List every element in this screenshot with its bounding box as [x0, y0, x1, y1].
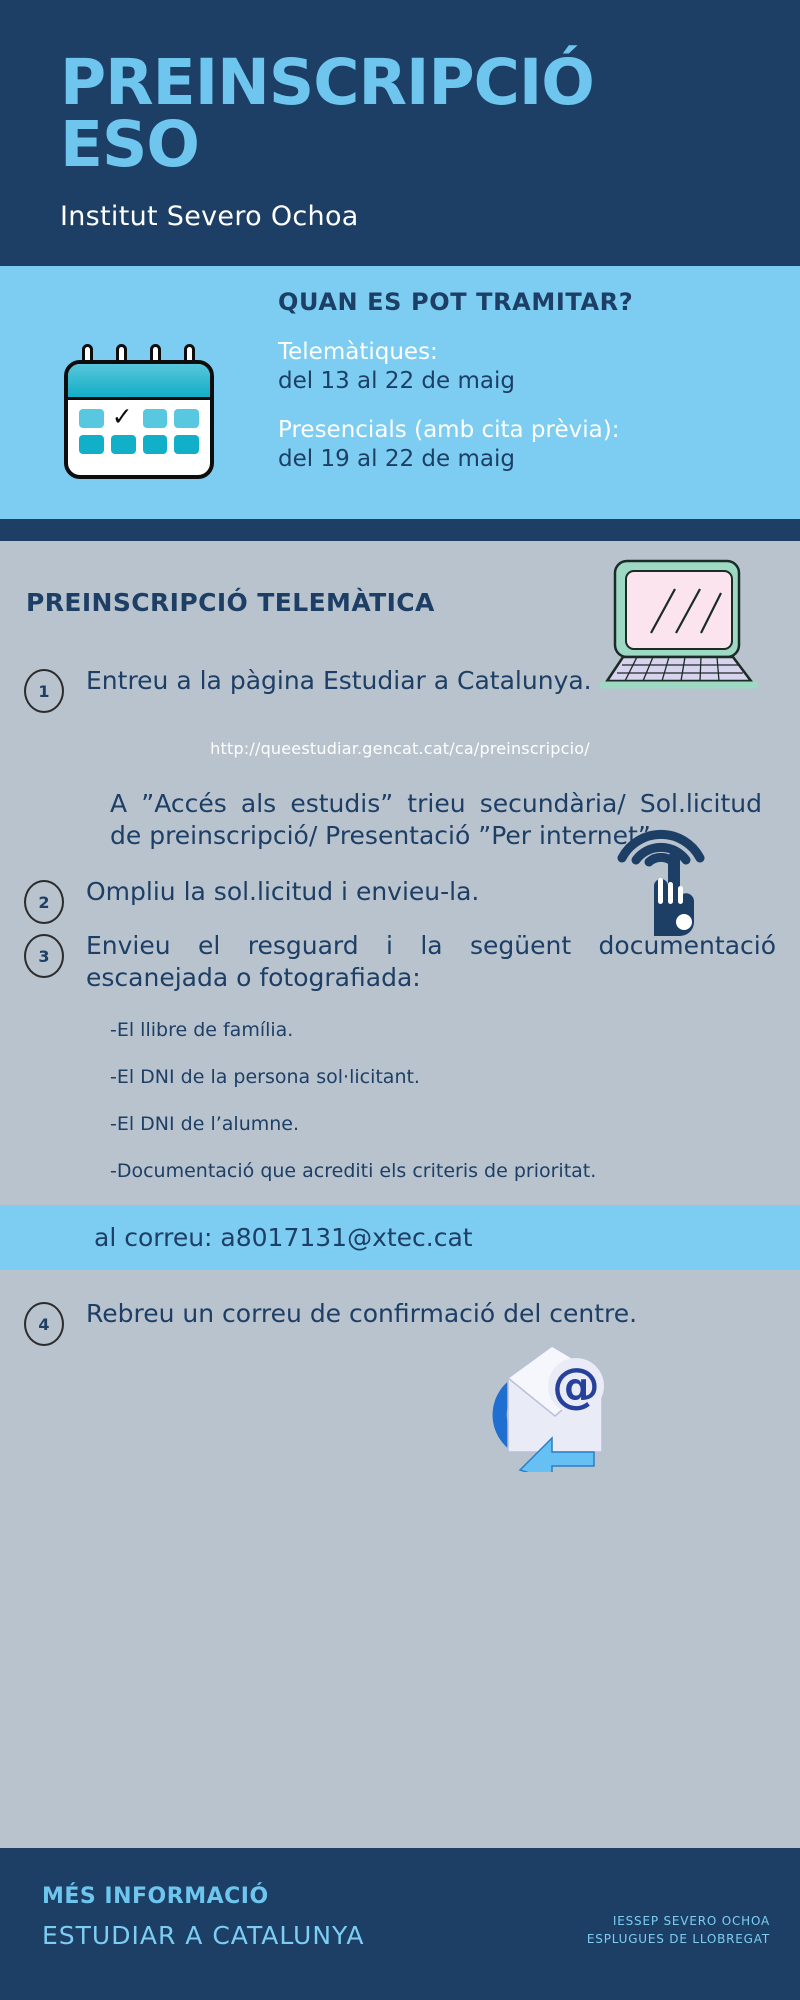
when-entry: Presencials (amb cita prèvia): del 19 al… [278, 416, 800, 474]
title-line-2: ESO [60, 114, 740, 176]
email-address-line[interactable]: al correu: a8017131@xtec.cat [94, 1223, 800, 1252]
when-entry: Telemàtiques: del 13 al 22 de maig [278, 338, 800, 396]
email-at-icon: @ [490, 1332, 620, 1472]
poster-header: PREINSCRIPCIÓ ESO Institut Severo Ochoa [0, 0, 800, 266]
document-item: -El DNI de la persona sol·licitant. [110, 1065, 762, 1090]
step-text: Rebreu un correu de confirmació del cent… [86, 1296, 776, 1330]
calendar-cell-checked: ✓ [111, 409, 136, 428]
when-heading: QUAN ES POT TRAMITAR? [278, 288, 800, 316]
telematic-section: PREINSCRIPCIÓ TELEMÀTICA [0, 541, 800, 1848]
steps-list: 1 Entreu a la pàgina Estudiar a Cataluny… [0, 663, 800, 1183]
check-icon: ✓ [112, 404, 133, 429]
page-title: PREINSCRIPCIÓ ESO [60, 52, 740, 175]
when-entry-label: Telemàtiques: [278, 338, 800, 367]
step-number-badge: 1 [24, 669, 64, 713]
calendar-cell [143, 409, 168, 428]
document-item: -Documentació que acrediti els criteris … [110, 1159, 762, 1184]
calendar-body: ✓ [64, 360, 214, 479]
organization-line-2: ESPLUGUES DE LLOBREGAT [587, 1931, 770, 1948]
tap-hand-icon [602, 800, 720, 940]
calendar-cell [111, 435, 136, 454]
when-entry-date: del 19 al 22 de maig [278, 445, 800, 474]
step-number-badge: 3 [24, 934, 64, 978]
when-text-list: Telemàtiques: del 13 al 22 de maig Prese… [278, 338, 800, 493]
calendar-cell [143, 435, 168, 454]
step-1: 1 Entreu a la pàgina Estudiar a Cataluny… [24, 663, 776, 713]
calendar-cell [79, 435, 104, 454]
final-step-area: 4 Rebreu un correu de confirmació del ce… [0, 1270, 800, 1346]
page-subtitle: Institut Severo Ochoa [60, 201, 740, 232]
organization-line-1: IESSEP SEVERO OCHOA [587, 1913, 770, 1930]
title-line-1: PREINSCRIPCIÓ [60, 52, 740, 114]
calendar-cell [174, 435, 199, 454]
calendar-header-bar [68, 364, 210, 400]
calendar-cell [79, 409, 104, 428]
section-divider [0, 519, 800, 541]
calendar-check-icon: ✓ [64, 344, 214, 479]
email-highlight-band: al correu: a8017131@xtec.cat [0, 1205, 800, 1270]
document-item: -El DNI de l’alumne. [110, 1112, 762, 1137]
calendar-icon-wrap: ✓ [0, 338, 278, 479]
when-entry-label: Presencials (amb cita prèvia): [278, 416, 800, 445]
step-text: Entreu a la pàgina Estudiar a Catalunya. [86, 663, 776, 697]
section-title-row: PREINSCRIPCIÓ TELEMÀTICA [0, 541, 800, 663]
step-2: 2 Ompliu la sol.licitud i envieu-la. [24, 874, 776, 924]
reference-url[interactable]: http://queestudiar.gencat.cat/ca/preinsc… [24, 739, 776, 758]
when-entry-date: del 13 al 22 de maig [278, 367, 800, 396]
poster-footer: MÉS INFORMACIÓ ESTUDIAR A CATALUNYA IESS… [0, 1848, 800, 2000]
step-3: 3 Envieu el resguard i la següent docume… [24, 928, 776, 994]
document-list: -El llibre de família. -El DNI de la per… [110, 1018, 762, 1183]
organization-info: IESSEP SEVERO OCHOA ESPLUGUES DE LLOBREG… [587, 1913, 770, 1948]
section-title: PREINSCRIPCIÓ TELEMÀTICA [26, 588, 435, 617]
infographic-poster: PREINSCRIPCIÓ ESO Institut Severo Ochoa … [0, 0, 800, 2000]
svg-text:@: @ [552, 1358, 600, 1414]
when-section: QUAN ES POT TRAMITAR? ✓ [0, 266, 800, 519]
more-info-label: MÉS INFORMACIÓ [42, 1884, 770, 1909]
calendar-grid: ✓ [68, 400, 210, 463]
calendar-cell [174, 409, 199, 428]
when-body: ✓ Telemàtiques: del 13 al 22 de ma [0, 338, 800, 493]
step-number-badge: 4 [24, 1302, 64, 1346]
step-4: 4 Rebreu un correu de confirmació del ce… [24, 1296, 776, 1346]
step-text: Envieu el resguard i la següent document… [86, 928, 776, 994]
step-number-badge: 2 [24, 880, 64, 924]
document-item: -El llibre de família. [110, 1018, 762, 1043]
